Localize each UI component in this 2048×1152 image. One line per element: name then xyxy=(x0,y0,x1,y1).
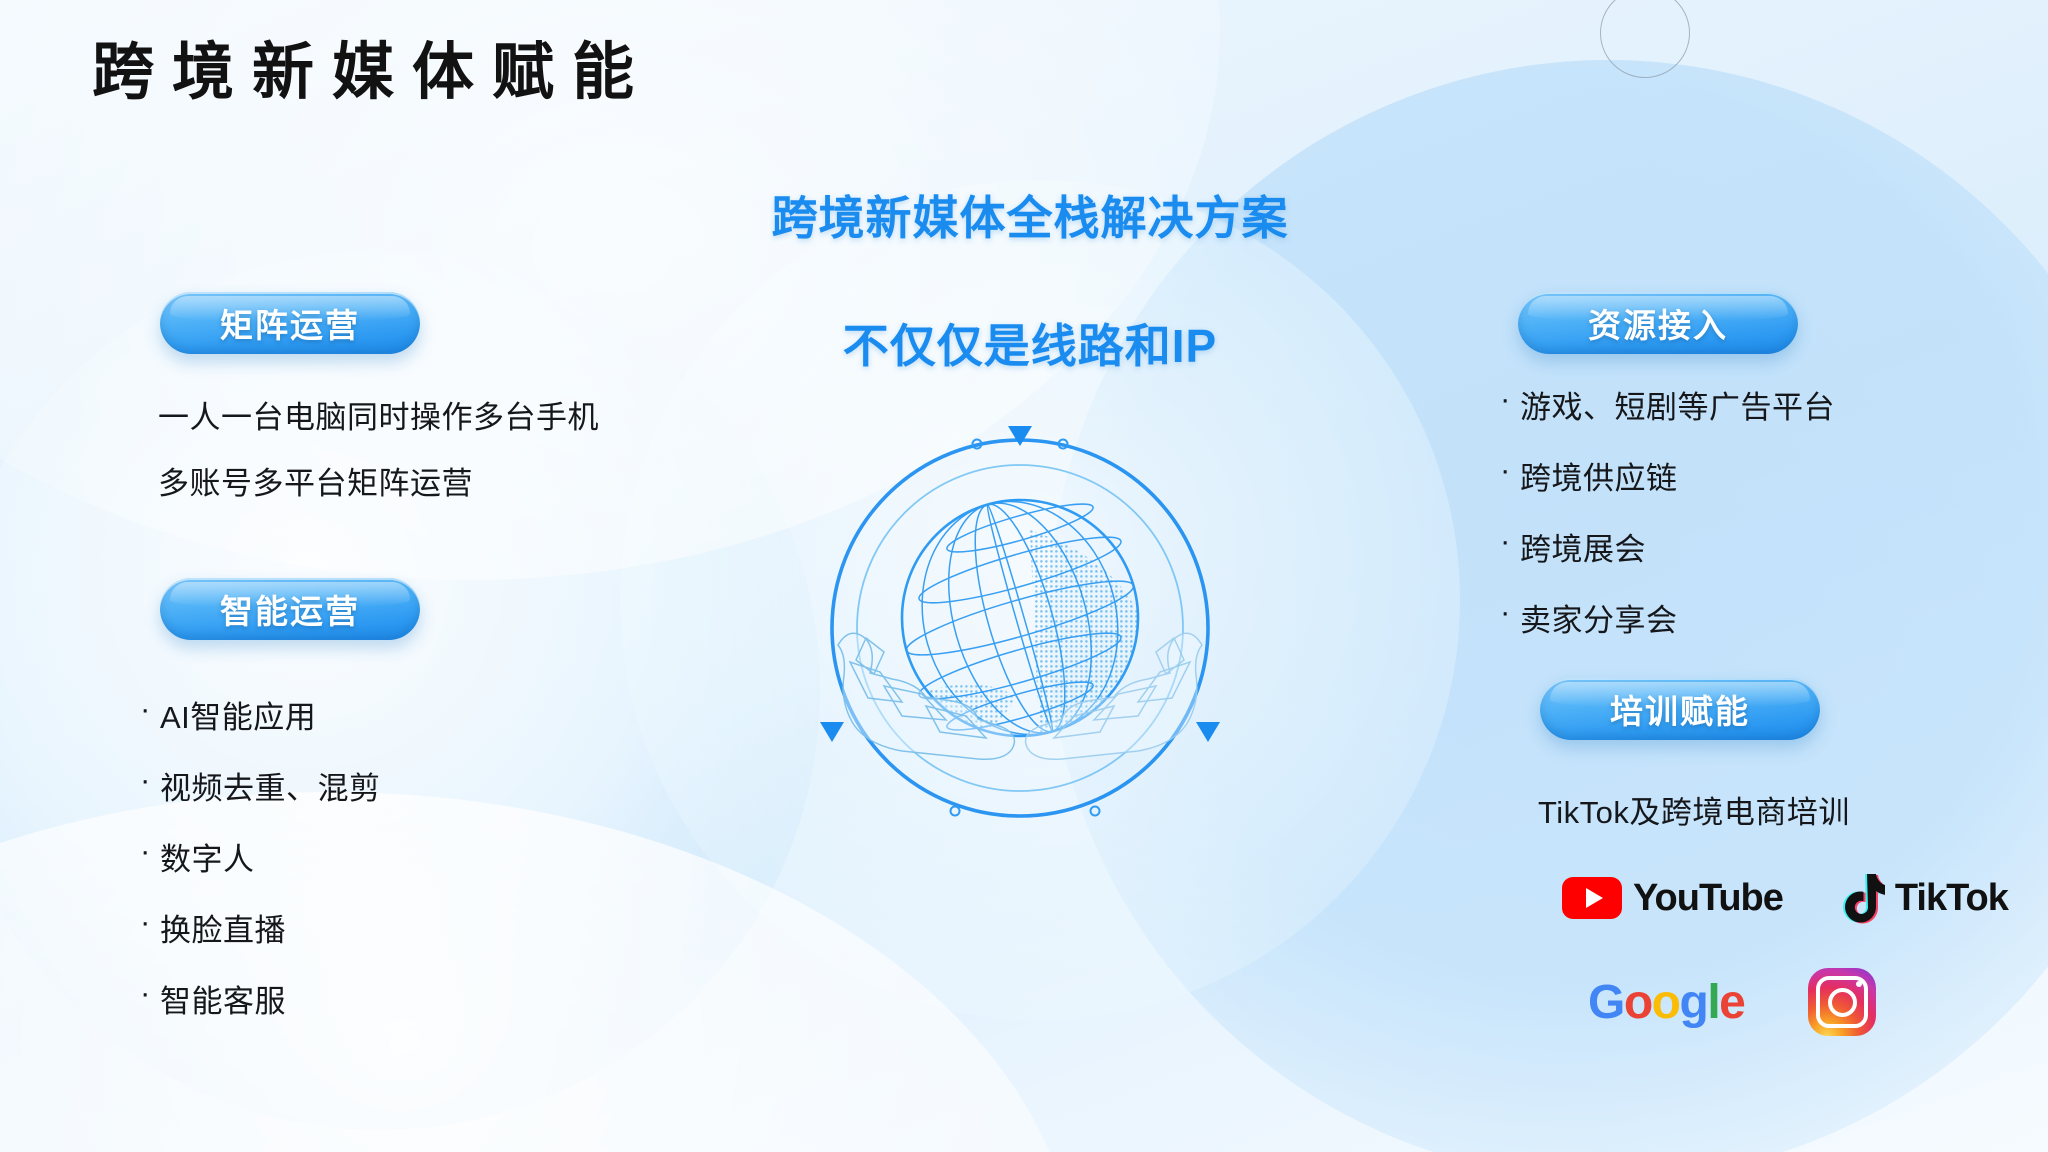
bullet-marker: · xyxy=(140,977,160,1008)
list-item-label: 游戏、短剧等广告平台 xyxy=(1520,382,1835,427)
background-blob-left xyxy=(0,250,820,1130)
list-item: · 跨境展会 xyxy=(1500,524,1835,569)
center-heading-primary: 跨境新媒体全栈解决方案 xyxy=(620,182,1440,248)
list-item: · 视频去重、混剪 xyxy=(140,763,381,808)
list-item: · 游戏、短剧等广告平台 xyxy=(1500,382,1835,427)
list-item-label: 智能客服 xyxy=(160,976,286,1021)
pill-training-empowerment[interactable]: 培训赋能 xyxy=(1540,678,1820,740)
center-heading-secondary: 不仅仅是线路和IP xyxy=(620,310,1440,376)
list-item-label: 数字人 xyxy=(160,834,255,879)
tiktok-wordmark: TikTok xyxy=(1895,877,2008,920)
google-letter-e: e xyxy=(1719,975,1744,1030)
tiktok-note-icon xyxy=(1839,872,1885,924)
google-letter-o2: o xyxy=(1652,975,1680,1030)
slide-canvas: 跨境新媒体赋能 跨境新媒体全栈解决方案 不仅仅是线路和IP xyxy=(0,0,2048,1152)
page-title: 跨境新媒体赋能 xyxy=(92,42,652,104)
google-letter-l: l xyxy=(1707,975,1719,1030)
globe-in-hands-icon xyxy=(780,400,1260,860)
list-item: · AI智能应用 xyxy=(140,692,381,737)
tiktok-logo[interactable]: TikTok xyxy=(1839,872,2008,924)
bullet-marker: · xyxy=(1500,525,1520,556)
list-item-label: 视频去重、混剪 xyxy=(160,763,381,808)
pill-smart-operation-label: 智能运营 xyxy=(220,585,360,633)
pill-matrix-operation[interactable]: 矩阵运营 xyxy=(160,292,420,354)
bullet-marker: · xyxy=(140,835,160,866)
youtube-logo[interactable]: YouTube xyxy=(1562,877,1783,920)
pill-matrix-operation-label: 矩阵运营 xyxy=(220,299,360,347)
logo-row-primary: YouTube TikTok xyxy=(1562,872,2008,924)
bullet-marker: · xyxy=(1500,596,1520,627)
list-item: · 换脸直播 xyxy=(140,905,381,950)
bullet-marker: · xyxy=(1500,454,1520,485)
list-item-label: 跨境展会 xyxy=(1520,524,1646,569)
google-letter-g2: g xyxy=(1680,975,1708,1030)
pill-resource-access-label: 资源接入 xyxy=(1588,299,1728,347)
matrix-line-1: 一人一台电脑同时操作多台手机 xyxy=(158,400,599,436)
list-item: · 跨境供应链 xyxy=(1500,453,1835,498)
youtube-wordmark: YouTube xyxy=(1633,877,1783,920)
list-item: · 智能客服 xyxy=(140,976,381,1021)
matrix-line-2: 多账号多平台矩阵运营 xyxy=(158,466,473,502)
training-description: TikTok及跨境电商培训 xyxy=(1538,795,1850,831)
list-item-label: 卖家分享会 xyxy=(1520,595,1678,640)
pill-resource-access[interactable]: 资源接入 xyxy=(1518,292,1798,354)
resource-access-list: · 游戏、短剧等广告平台 · 跨境供应链 · 跨境展会 · 卖家分享会 xyxy=(1500,382,1835,666)
google-letter-o1: o xyxy=(1624,975,1652,1030)
youtube-play-icon xyxy=(1562,877,1622,919)
google-letter-g1: G xyxy=(1588,975,1624,1030)
pill-training-empowerment-label: 培训赋能 xyxy=(1610,685,1750,733)
globe-illustration xyxy=(780,400,1260,860)
logo-row-secondary: Google xyxy=(1588,968,1876,1036)
decorative-circle-icon xyxy=(1600,0,1690,78)
smart-operation-list: · AI智能应用 · 视频去重、混剪 · 数字人 · 换脸直播 · 智能客服 xyxy=(140,692,381,1047)
list-item-label: AI智能应用 xyxy=(160,692,316,737)
instagram-logo[interactable] xyxy=(1808,968,1876,1036)
bullet-marker: · xyxy=(140,906,160,937)
list-item: · 卖家分享会 xyxy=(1500,595,1835,640)
google-logo[interactable]: Google xyxy=(1588,975,1744,1030)
bullet-marker: · xyxy=(1500,383,1520,414)
list-item-label: 跨境供应链 xyxy=(1520,453,1678,498)
list-item-label: 换脸直播 xyxy=(160,905,286,950)
pill-smart-operation[interactable]: 智能运营 xyxy=(160,578,420,640)
bullet-marker: · xyxy=(140,693,160,724)
bullet-marker: · xyxy=(140,764,160,795)
list-item: · 数字人 xyxy=(140,834,381,879)
